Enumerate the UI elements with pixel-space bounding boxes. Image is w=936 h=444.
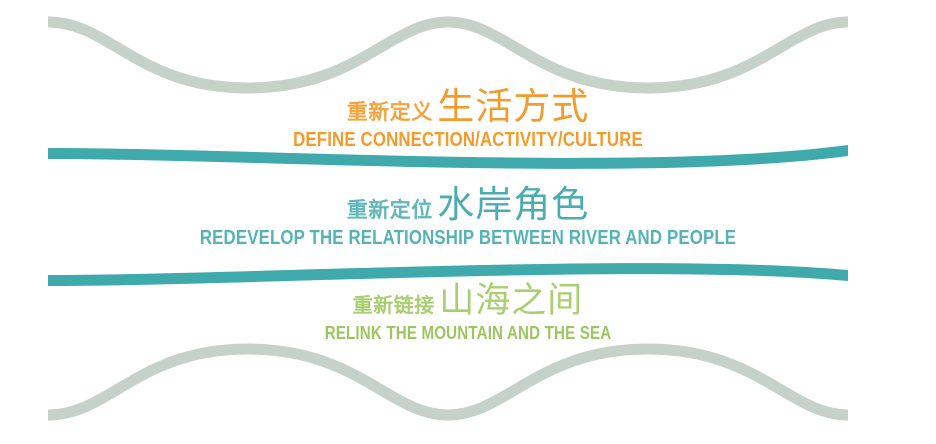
headline-define: 生活方式: [437, 85, 589, 128]
bottom-wave: [48, 349, 848, 415]
prefix-label-redevelop: 重新定位: [347, 198, 433, 222]
subtitle-relink: RELINK THE MOUNTAIN AND THE SEA: [75, 324, 861, 342]
headline-line-relink: 重新链接 山海之间: [0, 284, 936, 319]
headline-line-define: 重新定义 生活方式: [0, 88, 936, 125]
headline-relink: 山海之间: [439, 281, 583, 321]
subtitle-redevelop: REDEVELOP THE RELATIONSHIP BETWEEN RIVER…: [75, 228, 861, 248]
subtitle-define: DEFINE CONNECTION/ACTIVITY/CULTURE: [75, 130, 861, 150]
headline-redevelop: 水岸角色: [437, 183, 589, 226]
message-block-define: 重新定义 生活方式 DEFINE CONNECTION/ACTIVITY/CUL…: [0, 88, 936, 150]
message-block-relink: 重新链接 山海之间 RELINK THE MOUNTAIN AND THE SE…: [0, 284, 936, 342]
prefix-label-define: 重新定义: [347, 100, 433, 124]
message-block-redevelop: 重新定位 水岸角色 REDEVELOP THE RELATIONSHIP BET…: [0, 186, 936, 248]
top-wave: [48, 22, 848, 88]
prefix-label-relink: 重新链接: [353, 293, 435, 317]
slide-canvas: 重新定义 生活方式 DEFINE CONNECTION/ACTIVITY/CUL…: [0, 0, 936, 444]
headline-line-redevelop: 重新定位 水岸角色: [0, 186, 936, 223]
